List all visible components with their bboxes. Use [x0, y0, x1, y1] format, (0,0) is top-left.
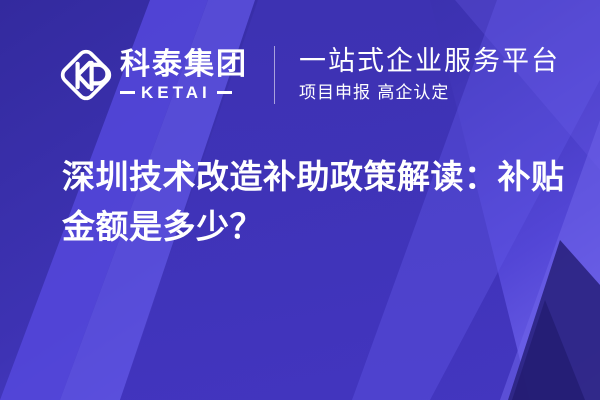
brand-name-en-row: KETAI: [120, 84, 248, 101]
brand-wordmark: 科泰集团 KETAI: [120, 46, 248, 104]
brand-name-en: KETAI: [135, 84, 217, 101]
dash-right-icon: [217, 91, 232, 94]
title-line-2: 金额是多少？: [62, 202, 562, 252]
dash-left-icon: [120, 91, 135, 94]
brand-name-cn: 科泰集团: [120, 49, 248, 81]
page-title: 深圳技术改造补助政策解读：补贴 金额是多少？: [62, 152, 562, 252]
promotional-banner: 科泰集团 KETAI 一站式企业服务平台 项目申报 高企认定 深圳技术改造补助政…: [0, 0, 600, 400]
header-divider: [274, 46, 275, 104]
brand-header: 科泰集团 KETAI 一站式企业服务平台 项目申报 高企认定: [58, 38, 560, 112]
title-line-1: 深圳技术改造补助政策解读：补贴: [62, 152, 562, 202]
slogan-sub: 项目申报 高企认定: [299, 82, 560, 104]
shape-dark-wedge-2: [512, 300, 585, 400]
kd-diamond-logo-icon: [58, 46, 114, 104]
slogan-block: 一站式企业服务平台 项目申报 高企认定: [299, 44, 560, 106]
slogan-main: 一站式企业服务平台: [299, 46, 560, 78]
shape-dark-wedge: [508, 240, 600, 400]
